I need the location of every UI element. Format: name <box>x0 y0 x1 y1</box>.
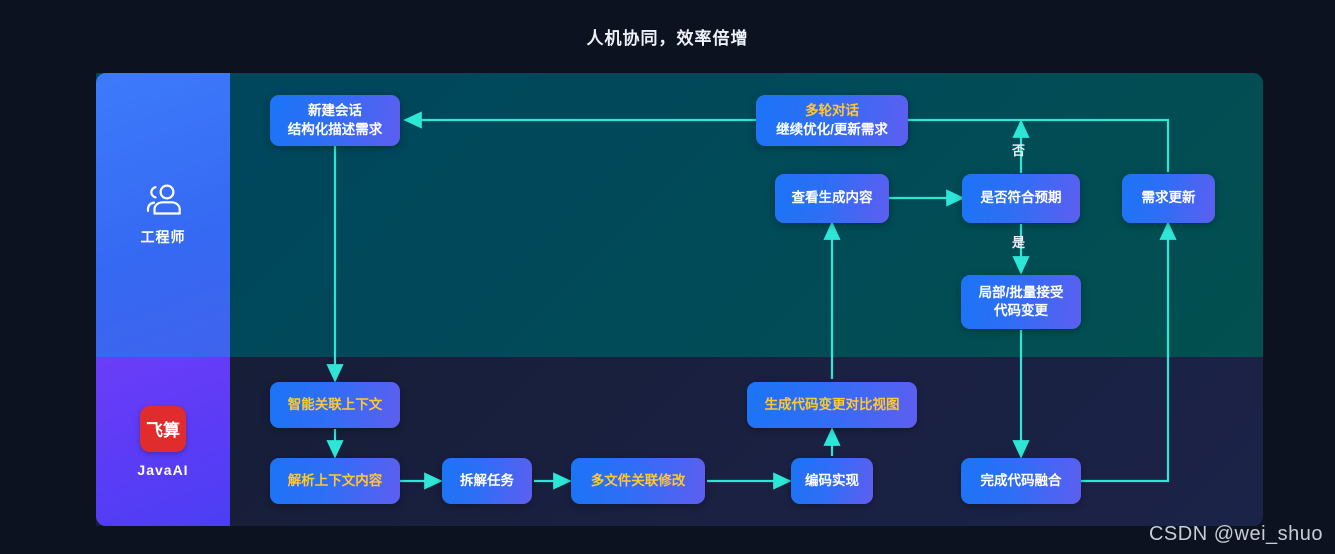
node-diff-view[interactable]: 生成代码变更对比视图 <box>747 382 917 428</box>
node-merge-done[interactable]: 完成代码融合 <box>961 458 1081 504</box>
node-requirement-update[interactable]: 需求更新 <box>1122 174 1215 223</box>
node-accept-changes-line2: 代码变更 <box>979 302 1064 320</box>
node-multi-file-edit-label: 多文件关联修改 <box>591 472 686 490</box>
node-view-output[interactable]: 查看生成内容 <box>775 174 889 223</box>
node-split-task[interactable]: 拆解任务 <box>442 458 532 504</box>
node-merge-done-label: 完成代码融合 <box>981 472 1062 490</box>
lane-header-engineer: 工程师 <box>96 73 230 357</box>
edge-label-branch-yes: 是 <box>1012 232 1025 251</box>
node-multi-file-edit[interactable]: 多文件关联修改 <box>571 458 705 504</box>
diagram-canvas: 人机协同，效率倍增 工程师 飞算 JavaAI <box>0 0 1335 554</box>
node-view-output-label: 查看生成内容 <box>792 189 873 207</box>
node-meets-expectation-label: 是否符合预期 <box>981 189 1062 207</box>
node-new-session-line2: 结构化描述需求 <box>288 121 383 139</box>
node-accept-changes[interactable]: 局部/批量接受 代码变更 <box>961 275 1081 329</box>
edge-label-branch-no: 否 <box>1012 140 1025 159</box>
node-coding[interactable]: 编码实现 <box>791 458 873 504</box>
node-parse-context-label: 解析上下文内容 <box>288 472 383 490</box>
node-accept-changes-line1: 局部/批量接受 <box>979 284 1064 302</box>
node-new-session-line1: 新建会话 <box>288 102 383 120</box>
page-title: 人机协同，效率倍增 <box>0 24 1335 49</box>
feisuan-logo-icon: 飞算 <box>140 406 186 452</box>
node-multi-turn-line1: 多轮对话 <box>776 102 888 120</box>
node-parse-context[interactable]: 解析上下文内容 <box>270 458 400 504</box>
lane-label-javaai: JavaAI <box>137 462 188 478</box>
node-meets-expectation[interactable]: 是否符合预期 <box>962 174 1080 223</box>
node-diff-view-label: 生成代码变更对比视图 <box>765 396 900 414</box>
node-split-task-label: 拆解任务 <box>460 472 514 490</box>
node-smart-context-label: 智能关联上下文 <box>288 396 383 414</box>
users-icon <box>142 183 184 217</box>
lane-header-javaai: 飞算 JavaAI <box>96 357 230 526</box>
node-multi-turn-line2: 继续优化/更新需求 <box>776 121 888 139</box>
node-requirement-update-label: 需求更新 <box>1142 189 1196 207</box>
node-smart-context[interactable]: 智能关联上下文 <box>270 382 400 428</box>
lane-label-engineer: 工程师 <box>141 227 186 247</box>
node-coding-label: 编码实现 <box>805 472 859 490</box>
node-new-session[interactable]: 新建会话 结构化描述需求 <box>270 95 400 146</box>
watermark: CSDN @wei_shuo <box>1149 523 1323 546</box>
node-multi-turn[interactable]: 多轮对话 继续优化/更新需求 <box>756 95 908 146</box>
